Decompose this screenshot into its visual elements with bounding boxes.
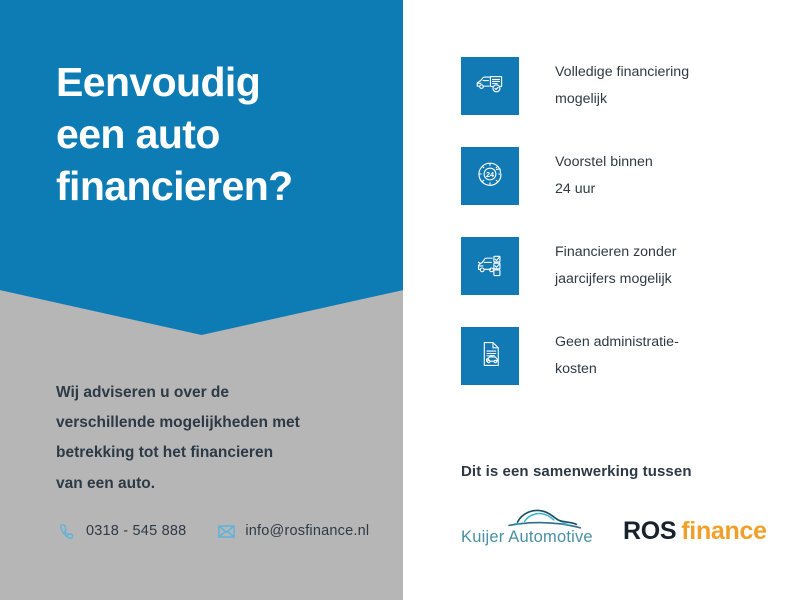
left-column: Eenvoudig een auto financieren? Wij advi… bbox=[0, 0, 403, 600]
headline-line-2: een auto bbox=[56, 108, 386, 160]
feature-label-line-2: kosten bbox=[555, 356, 679, 383]
feature-label-line-2: jaarcijfers mogelijk bbox=[555, 266, 676, 293]
clock-24-hour-icon: 24 bbox=[473, 157, 507, 196]
feature-label-line-1: Geen administratie- bbox=[555, 329, 679, 356]
feature-item-financieren-zonder-jaarcijfers: Financieren zonder jaarcijfers mogelijk bbox=[461, 237, 689, 295]
body-copy-line-2: verschillende mogelijkheden met bbox=[56, 408, 376, 438]
ros-finance-word: finance bbox=[681, 517, 766, 545]
body-copy-line-4: van een auto. bbox=[56, 469, 376, 499]
phone-number: 0318 - 545 888 bbox=[86, 523, 186, 539]
body-copy: Wij adviseren u over de verschillende mo… bbox=[56, 378, 376, 499]
ros-wordmark: ROS bbox=[623, 517, 676, 545]
feature-icon-box bbox=[461, 57, 519, 115]
feature-icon-box: 24 bbox=[461, 147, 519, 205]
feature-label-line-1: Financieren zonder bbox=[555, 239, 676, 266]
phone-icon bbox=[57, 521, 77, 541]
headline-line-3: financieren? bbox=[56, 160, 386, 212]
body-copy-line-3: betrekking tot het financieren bbox=[56, 438, 376, 468]
feature-list: Volledige financiering mogelijk 24 bbox=[461, 57, 689, 417]
kuijer-automotive-label: Kuijer Automotive bbox=[461, 528, 593, 547]
feature-label: Geen administratie- kosten bbox=[555, 329, 679, 384]
page-title: Eenvoudig een auto financieren? bbox=[56, 56, 386, 212]
right-column: Volledige financiering mogelijk 24 bbox=[403, 0, 800, 600]
email-address: info@rosfinance.nl bbox=[245, 523, 369, 539]
car-checklist-icon bbox=[473, 247, 507, 286]
feature-icon-box bbox=[461, 327, 519, 385]
partner-logo-row: Kuijer Automotive ROSfinance bbox=[461, 506, 791, 548]
feature-item-voorstel-binnen-24-uur: 24 Voorstel binnen 24 uur bbox=[461, 147, 689, 205]
partnership-block: Dit is een samenwerking tussen Kuijer Au… bbox=[461, 463, 791, 548]
kuijer-automotive-logo[interactable]: Kuijer Automotive bbox=[461, 506, 601, 548]
feature-item-geen-administratiekosten: Geen administratie- kosten bbox=[461, 327, 689, 385]
feature-label-line-2: mogelijk bbox=[555, 86, 689, 113]
feature-label: Voorstel binnen 24 uur bbox=[555, 149, 653, 204]
feature-label: Volledige financiering mogelijk bbox=[555, 59, 689, 114]
ros-finance-logo[interactable]: ROSfinance bbox=[623, 517, 767, 548]
partnership-heading: Dit is een samenwerking tussen bbox=[461, 463, 791, 480]
car-document-check-icon bbox=[473, 67, 507, 106]
body-copy-line-1: Wij adviseren u over de bbox=[56, 378, 376, 408]
contact-row: 0318 - 545 888 info@rosfinance.nl bbox=[57, 521, 369, 541]
contact-phone[interactable]: 0318 - 545 888 bbox=[57, 521, 186, 541]
feature-icon-box bbox=[461, 237, 519, 295]
feature-label-line-1: Voorstel binnen bbox=[555, 149, 653, 176]
document-car-icon bbox=[473, 337, 507, 376]
envelope-icon bbox=[216, 521, 236, 541]
feature-label-line-1: Volledige financiering bbox=[555, 59, 689, 86]
feature-label-line-2: 24 uur bbox=[555, 176, 653, 203]
feature-item-volledige-financiering: Volledige financiering mogelijk bbox=[461, 57, 689, 115]
svg-text:24: 24 bbox=[486, 170, 495, 179]
headline-line-1: Eenvoudig bbox=[56, 56, 386, 108]
contact-email[interactable]: info@rosfinance.nl bbox=[216, 521, 369, 541]
promo-poster: Eenvoudig een auto financieren? Wij advi… bbox=[0, 0, 800, 600]
feature-label: Financieren zonder jaarcijfers mogelijk bbox=[555, 239, 676, 294]
